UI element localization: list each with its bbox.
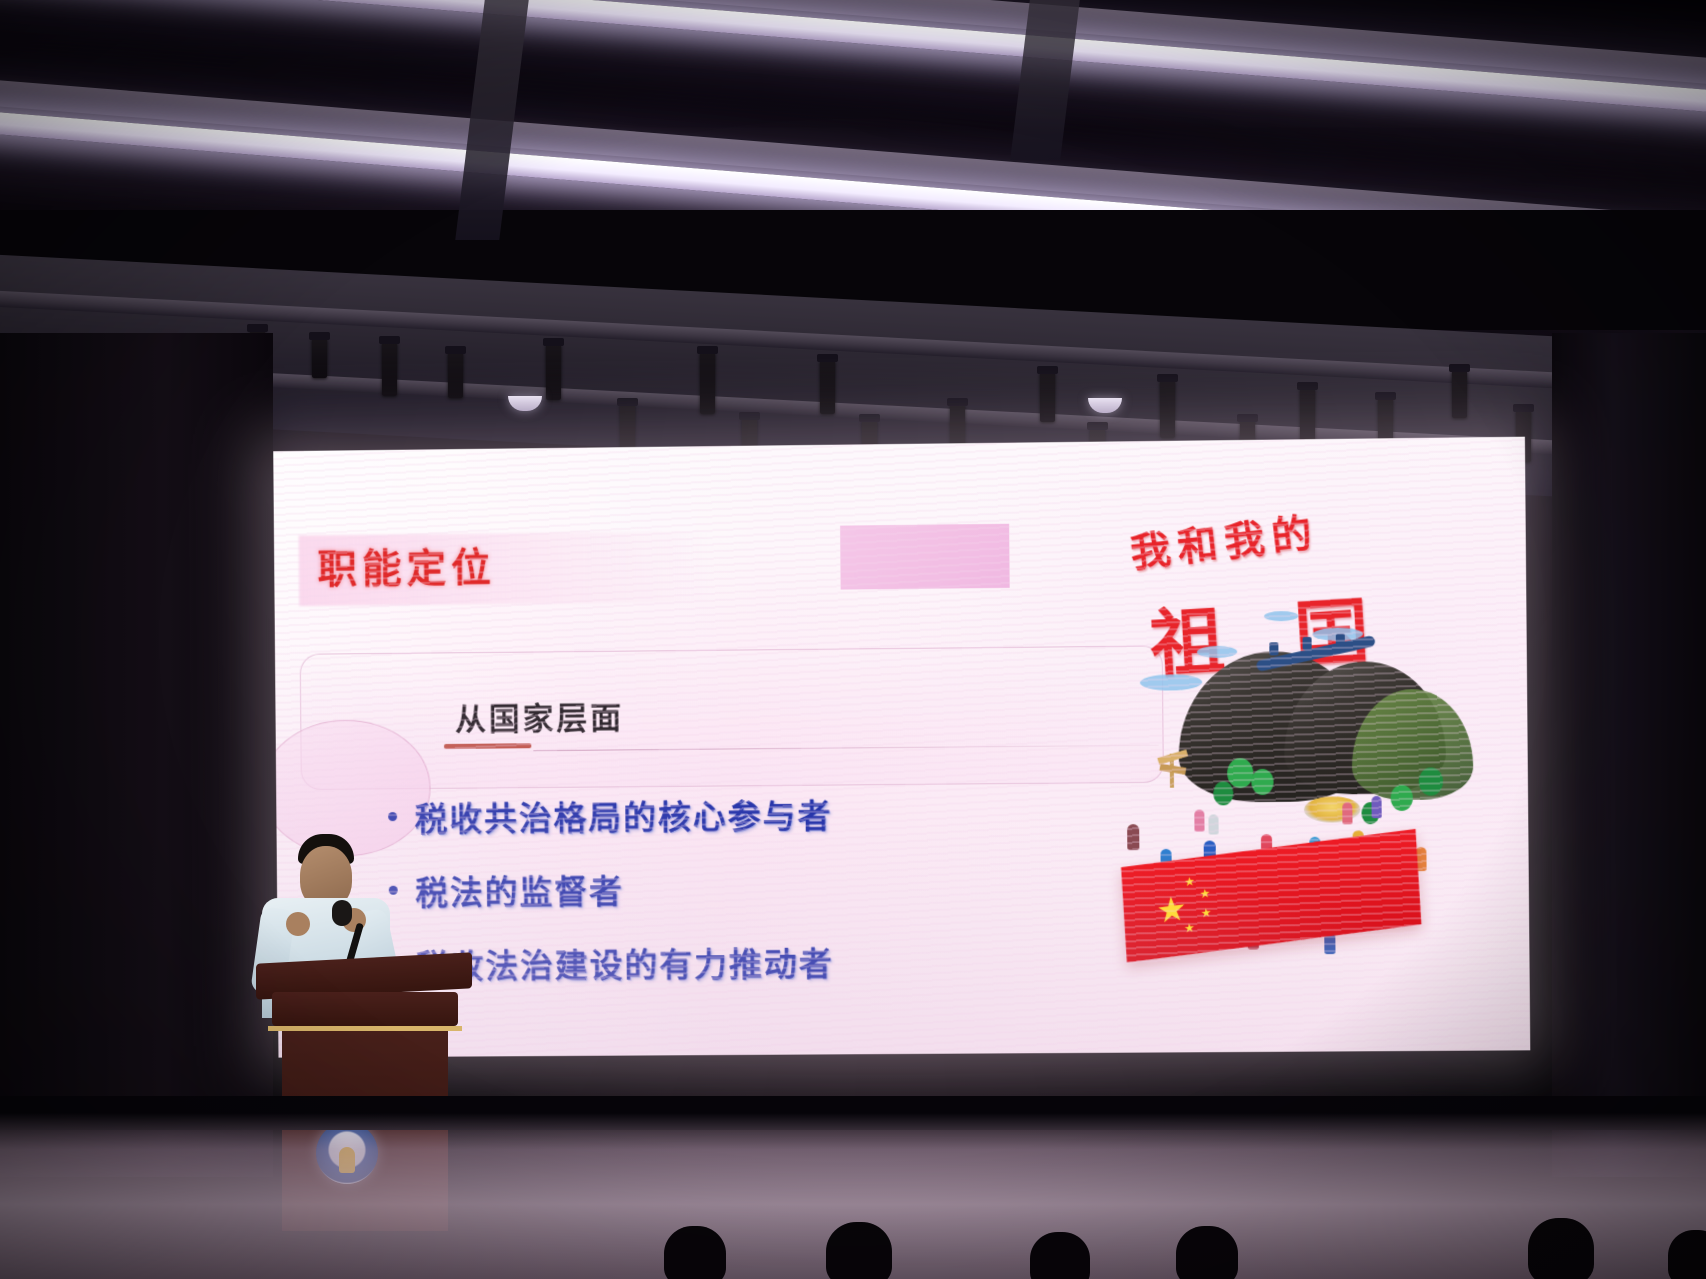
speaker-hand-left	[286, 912, 310, 936]
podium-neck	[272, 992, 458, 1026]
audience-head	[1030, 1232, 1090, 1279]
audience-head	[1176, 1226, 1238, 1279]
spotlight-3	[382, 342, 397, 396]
photo-scene: 职能定位 从国家层面 税收共治格局的核心参与者 税法的监督者 税收法治建设的有力…	[0, 0, 1706, 1279]
spotlight-4	[448, 352, 463, 398]
spotlight-2	[312, 338, 327, 378]
spotlight-18	[1452, 370, 1467, 418]
audience-head	[1528, 1218, 1594, 1279]
audience-head	[826, 1222, 892, 1279]
microphone-head	[332, 900, 352, 926]
spotlight-9	[820, 360, 835, 414]
spotlight-14	[1160, 380, 1175, 438]
right-wall-panel	[1552, 333, 1706, 1177]
spotlight-7	[700, 352, 715, 414]
left-wall-panel	[0, 333, 273, 1177]
spotlight-5	[546, 344, 561, 400]
audience-head	[664, 1226, 726, 1279]
spotlight-12	[1040, 372, 1055, 422]
spotlight-16	[1300, 388, 1315, 442]
